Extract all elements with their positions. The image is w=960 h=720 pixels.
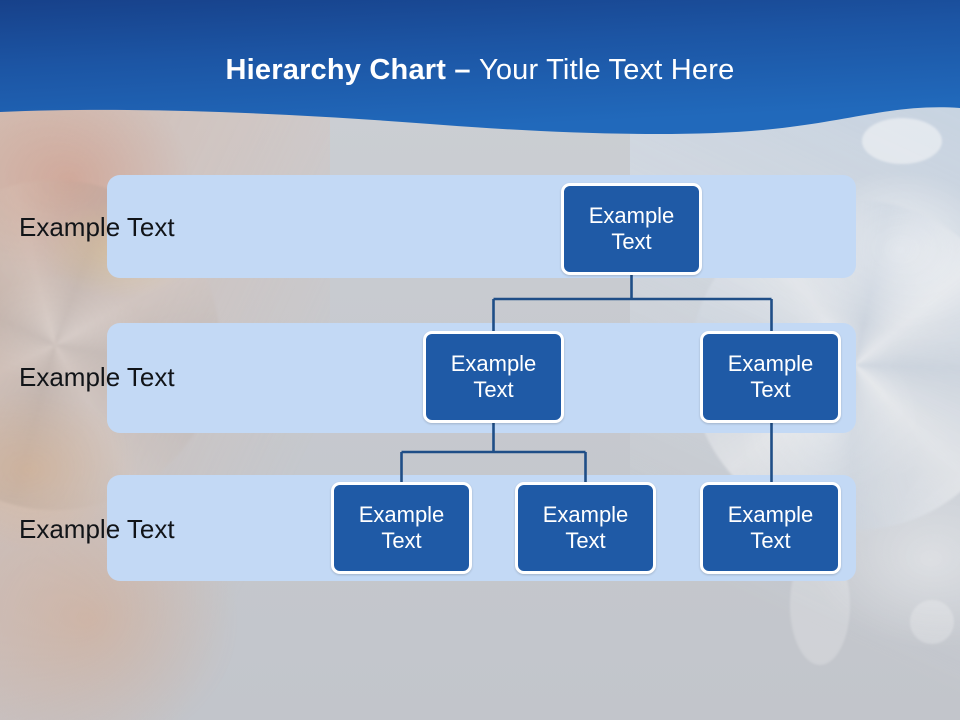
hierarchy-node-l3-1-text: Example Text [359,502,445,554]
hierarchy-node-l3-2[interactable]: Example Text [515,482,656,574]
hierarchy-node-l3-1[interactable]: Example Text [331,482,472,574]
hierarchy-node-l2-1-text: Example Text [451,351,537,403]
hierarchy-node-l3-3-text: Example Text [728,502,814,554]
hierarchy-node-l2-1-line2: Text [451,377,537,403]
slide: Hierarchy Chart – Your Title Text Here E… [0,0,960,720]
hierarchy-row-band-1[interactable] [107,175,856,278]
page-title-separator: – [454,54,479,86]
hierarchy-node-l3-3[interactable]: Example Text [700,482,841,574]
hierarchy-node-l3-1-line1: Example [359,502,445,528]
hierarchy-node-l3-3-line2: Text [728,528,814,554]
hierarchy-node-l2-1-line1: Example [451,351,537,377]
hierarchy-node-l3-2-text: Example Text [543,502,629,554]
row-label-1[interactable]: Example Text [19,212,175,242]
hierarchy-node-l3-2-line1: Example [543,502,629,528]
hierarchy-node-l3-2-line2: Text [543,528,629,554]
page-title-strong: Hierarchy Chart [226,54,455,86]
row-label-3[interactable]: Example Text [19,514,175,544]
row-label-2[interactable]: Example Text [19,362,175,392]
hierarchy-node-l1-1-line2: Text [589,229,675,255]
hierarchy-node-l1-1-line1: Example [589,203,675,229]
page-title: Hierarchy Chart – Your Title Text Here [0,52,960,88]
hierarchy-node-l3-1-line2: Text [359,528,445,554]
hierarchy-node-l1-1[interactable]: Example Text [561,183,702,275]
hierarchy-node-l2-2-line1: Example [728,351,814,377]
hierarchy-node-l2-2-text: Example Text [728,351,814,403]
hierarchy-node-l2-2-line2: Text [728,377,814,403]
hierarchy-node-l2-1[interactable]: Example Text [423,331,564,423]
hierarchy-node-l2-2[interactable]: Example Text [700,331,841,423]
page-title-light: Your Title Text Here [479,54,734,86]
hierarchy-node-l3-3-line1: Example [728,502,814,528]
hierarchy-node-l1-1-text: Example Text [589,203,675,255]
water-splash-3 [910,600,954,644]
